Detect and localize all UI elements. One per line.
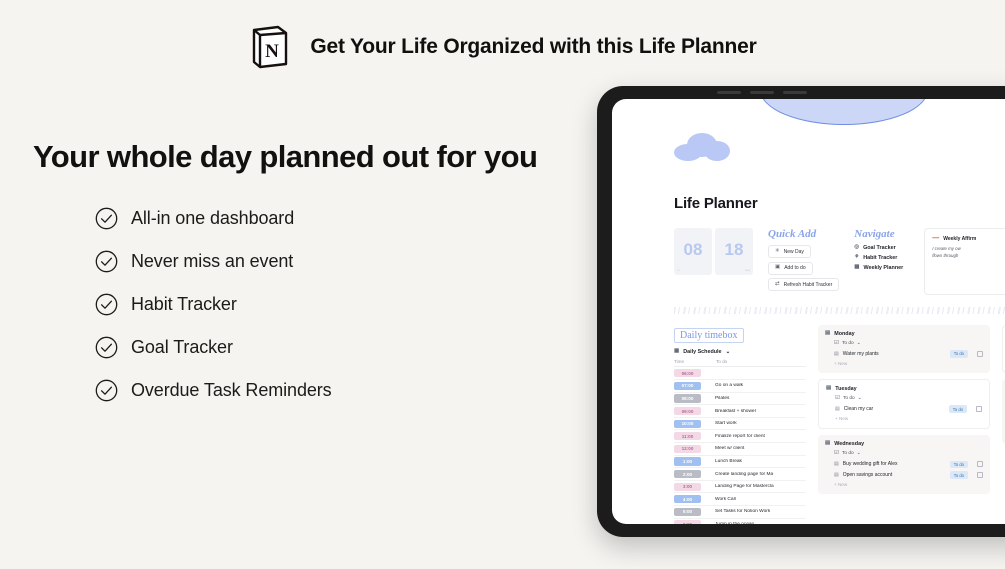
list-item: Never miss an event: [95, 250, 603, 273]
date-cards: 08 m 18 aug: [674, 228, 753, 295]
schedule-row[interactable]: 09:00Breakfast + shower: [674, 405, 806, 418]
chevron-down-icon[interactable]: ⌄: [857, 451, 861, 456]
calendar-icon: ▤: [825, 331, 830, 337]
time-chip: 4:00: [674, 495, 701, 503]
schedule-row[interactable]: 07:00Go on a walk: [674, 380, 806, 393]
refresh-habit-tracker-button[interactable]: ⇄ Refresh Habit Tracker: [768, 278, 839, 291]
nav-goal-tracker[interactable]: ◎ Goal Tracker: [854, 245, 903, 251]
sprout-icon: ⚘: [854, 255, 859, 261]
schedule-task: Landing Page for Mastercla: [715, 484, 793, 489]
schedule-task: Start work: [715, 421, 793, 426]
day-card-monday: ▤ Monday ☑ To do ⌄ ▤ Water my plants To …: [818, 325, 990, 373]
schedule-table: Time To do 06:0007:00Go on a walk08:00Pi…: [674, 359, 806, 525]
page-icon: ▤: [834, 351, 839, 357]
schedule-task: Go on a walk: [715, 383, 793, 388]
speaker-grille-icon: [717, 91, 807, 94]
task-checkbox[interactable]: [977, 461, 983, 467]
refresh-habit-label: Refresh Habit Tracker: [784, 282, 833, 288]
checklist-icon: ☑: [835, 396, 840, 402]
group-row[interactable]: ☑ To do ⌄: [834, 341, 983, 347]
navigate-heading: Navigate: [854, 228, 903, 240]
schedule-task: Set Tasks for Notion Work: [715, 509, 793, 514]
schedule-task: Jump in the ocean: [715, 522, 793, 524]
list-item-label: Goal Tracker: [131, 337, 233, 358]
schedule-task: Create landing page for Ma: [715, 472, 793, 477]
time-chip: 10:00: [674, 420, 701, 428]
day-name: Tuesday: [835, 386, 856, 392]
checklist-icon: ☑: [834, 451, 839, 457]
column-header-todo: To do: [716, 359, 727, 364]
time-chip: 1:00: [674, 457, 701, 465]
task-row[interactable]: ▤ Buy wedding gift for Alex To do: [834, 461, 983, 469]
refresh-icon: ⇄: [775, 282, 780, 288]
feature-list: All-in one dashboard Never miss an event…: [95, 207, 603, 402]
page-icon: ▤: [835, 406, 840, 412]
nav-goal-tracker-label: Goal Tracker: [863, 245, 896, 251]
target-icon: ◎: [854, 245, 859, 251]
circle-check-icon: [95, 379, 118, 402]
new-task-button[interactable]: + New: [834, 361, 983, 366]
time-chip: 3:00: [674, 483, 701, 491]
group-label: To do: [842, 451, 854, 456]
calendar-icon: ▤: [825, 441, 830, 447]
task-checkbox[interactable]: [977, 472, 983, 478]
day-name: Monday: [834, 331, 854, 337]
planner-title: Life Planner: [674, 195, 1005, 212]
nav-weekly-planner[interactable]: ▦ Weekly Planner: [854, 265, 903, 271]
day-card-tuesday: ▤ Tuesday ☑ To do ⌄ ▤ Clean my car To do: [818, 379, 990, 429]
task-checkbox[interactable]: [976, 406, 982, 412]
task-name: Water my plants: [843, 351, 946, 357]
time-chip: 09:00: [674, 407, 701, 415]
schedule-row[interactable]: 4:00Work Call: [674, 493, 806, 506]
time-chip: 06:00: [674, 369, 701, 377]
time-chip: 07:00: [674, 382, 701, 390]
task-name: Buy wedding gift for Alex: [843, 461, 946, 467]
tablet-mockup: Life Planner 08 m 18 aug Quick Add: [597, 86, 1005, 537]
schedule-task: Work Call: [715, 497, 793, 502]
schedule-task: Breakfast + shower: [715, 409, 793, 414]
time-chip: 6:00: [674, 520, 701, 524]
new-day-button[interactable]: ✳ New Day: [768, 245, 811, 258]
new-day-label: New Day: [784, 249, 804, 255]
decorative-divider: [674, 307, 1005, 314]
page-header: N Get Your Life Organized with this Life…: [0, 24, 1005, 70]
promo-headline: Your whole day planned out for you: [33, 138, 603, 175]
date-sublabel: aug: [745, 268, 750, 272]
day-card-wednesday: ▤ Wednesday ☑ To do ⌄ ▤ Buy wedding gift…: [818, 435, 990, 494]
schedule-task: Lunch Break: [715, 459, 793, 464]
schedule-task: Finalize report for client: [715, 434, 793, 439]
chevron-down-icon[interactable]: ⌄: [726, 349, 731, 355]
status-badge: To do: [950, 350, 968, 358]
schedule-row[interactable]: 3:00Landing Page for Mastercla: [674, 481, 806, 494]
tablet-screen: Life Planner 08 m 18 aug Quick Add: [612, 99, 1005, 524]
daily-schedule-title: Daily Schedule: [683, 349, 721, 355]
date-sublabel: m: [677, 268, 680, 272]
status-badge: To do: [950, 471, 968, 479]
list-item-label: Never miss an event: [131, 251, 293, 272]
task-name: Clean my car: [844, 406, 945, 412]
task-row[interactable]: ▤ Clean my car To do: [835, 405, 982, 413]
day-title-row: ▤ Tuesday: [826, 386, 982, 392]
task-name: Open savings account: [843, 472, 946, 478]
quick-add-heading: Quick Add: [768, 228, 839, 240]
circle-check-icon: [95, 207, 118, 230]
circle-check-icon: [95, 293, 118, 316]
list-item: Overdue Task Reminders: [95, 379, 603, 402]
circle-check-icon: [95, 250, 118, 273]
nav-habit-tracker-label: Habit Tracker: [863, 255, 897, 261]
list-item: All-in one dashboard: [95, 207, 603, 230]
nav-weekly-planner-label: Weekly Planner: [863, 265, 903, 271]
status-badge: To do: [949, 405, 967, 413]
group-row[interactable]: ☑ To do ⌄: [835, 396, 982, 402]
day-title-row: ▤ Wednesday: [825, 441, 983, 447]
time-chip: 11:00: [674, 432, 701, 440]
sparkle-icon: ✳: [775, 249, 780, 255]
daily-timebox-heading: Daily timebox: [674, 328, 744, 343]
add-todo-label: Add to do: [784, 265, 805, 271]
navigate-section: Navigate ◎ Goal Tracker ⚘ Habit Tracker …: [854, 228, 903, 295]
svg-text:N: N: [266, 41, 280, 62]
time-chip: 5:00: [674, 508, 701, 516]
date-number: 08: [674, 240, 712, 260]
daily-schedule-title-row[interactable]: ▦ Daily Schedule ⌄: [674, 349, 806, 355]
list-item-label: All-in one dashboard: [131, 208, 294, 229]
quick-add-section: Quick Add ✳ New Day ▣ Add to do ⇄ Refres…: [768, 228, 839, 295]
schedule-row[interactable]: 2:00Create landing page for Ma: [674, 468, 806, 481]
list-item-label: Habit Tracker: [131, 294, 237, 315]
column-header-time: Time: [674, 359, 716, 364]
affirmation-line-2: flows through: [932, 252, 1005, 259]
task-row[interactable]: ▤ Open savings account To do: [834, 471, 983, 479]
date-number: 18: [715, 240, 753, 260]
time-chip: 12:00: [674, 445, 701, 453]
affirmation-title-row: — Weekly Affirm: [932, 235, 1005, 242]
schedule-row[interactable]: 12:00Meet w/ client: [674, 443, 806, 456]
task-row[interactable]: ▤ Water my plants To do: [834, 350, 983, 358]
chevron-down-icon[interactable]: ⌄: [857, 341, 861, 346]
schedule-row[interactable]: 11:00Finalize report for client: [674, 430, 806, 443]
time-chip: 08:00: [674, 394, 701, 402]
new-task-button[interactable]: + New: [835, 416, 982, 421]
schedule-row[interactable]: 10:00Start work: [674, 418, 806, 431]
schedule-row[interactable]: 1:00Lunch Break: [674, 456, 806, 469]
schedule-header-row: Time To do: [674, 359, 806, 367]
date-card-day: 18 aug: [715, 228, 753, 275]
day-title-row: ▤ Monday: [825, 331, 983, 337]
list-item: Goal Tracker: [95, 336, 603, 359]
schedule-task: Pilates: [715, 396, 793, 401]
new-task-button[interactable]: + New: [834, 482, 983, 487]
task-checkbox[interactable]: [977, 351, 983, 357]
schedule-row[interactable]: 6:00Jump in the ocean: [674, 519, 806, 524]
list-item-label: Overdue Task Reminders: [131, 380, 332, 401]
weekly-affirmation-card: — Weekly Affirm I create my ow flows thr…: [924, 228, 1005, 295]
date-card-month: 08 m: [674, 228, 712, 275]
checklist-icon: ☑: [834, 341, 839, 347]
check-square-icon: ▣: [775, 265, 780, 271]
promo-copy: Your whole day planned out for you All-i…: [33, 138, 603, 402]
page-title: Get Your Life Organized with this Life P…: [310, 35, 756, 59]
schedule-task: Meet w/ client: [715, 446, 793, 451]
schedule-row[interactable]: 06:00: [674, 368, 806, 381]
nav-habit-tracker[interactable]: ⚘ Habit Tracker: [854, 255, 903, 261]
calendar-icon: ▤: [826, 386, 831, 392]
weekday-cards: ▤ Monday ☑ To do ⌄ ▤ Water my plants To …: [818, 325, 990, 525]
affirmation-title: Weekly Affirm: [943, 236, 976, 242]
list-item: Habit Tracker: [95, 293, 603, 316]
group-label: To do: [843, 396, 855, 401]
calendar-icon: ▦: [674, 349, 679, 355]
notion-logo-icon: N: [248, 24, 290, 70]
daily-timebox-section: Daily timebox ▦ Daily Schedule ⌄ Time To…: [674, 325, 806, 525]
status-badge: To do: [950, 461, 968, 469]
dash-icon: —: [932, 235, 939, 242]
page-icon: ▤: [834, 461, 839, 467]
group-label: To do: [842, 341, 854, 346]
page-icon: ▤: [834, 472, 839, 478]
group-row[interactable]: ☑ To do ⌄: [834, 451, 983, 457]
chevron-down-icon[interactable]: ⌄: [858, 396, 862, 401]
affirmation-line-1: I create my ow: [932, 245, 1005, 252]
circle-check-icon: [95, 336, 118, 359]
day-name: Wednesday: [834, 441, 864, 447]
add-todo-button[interactable]: ▣ Add to do: [768, 262, 813, 275]
time-chip: 2:00: [674, 470, 701, 478]
schedule-row[interactable]: 5:00Set Tasks for Notion Work: [674, 506, 806, 519]
calendar-icon: ▦: [854, 265, 859, 271]
schedule-row[interactable]: 08:00Pilates: [674, 393, 806, 406]
